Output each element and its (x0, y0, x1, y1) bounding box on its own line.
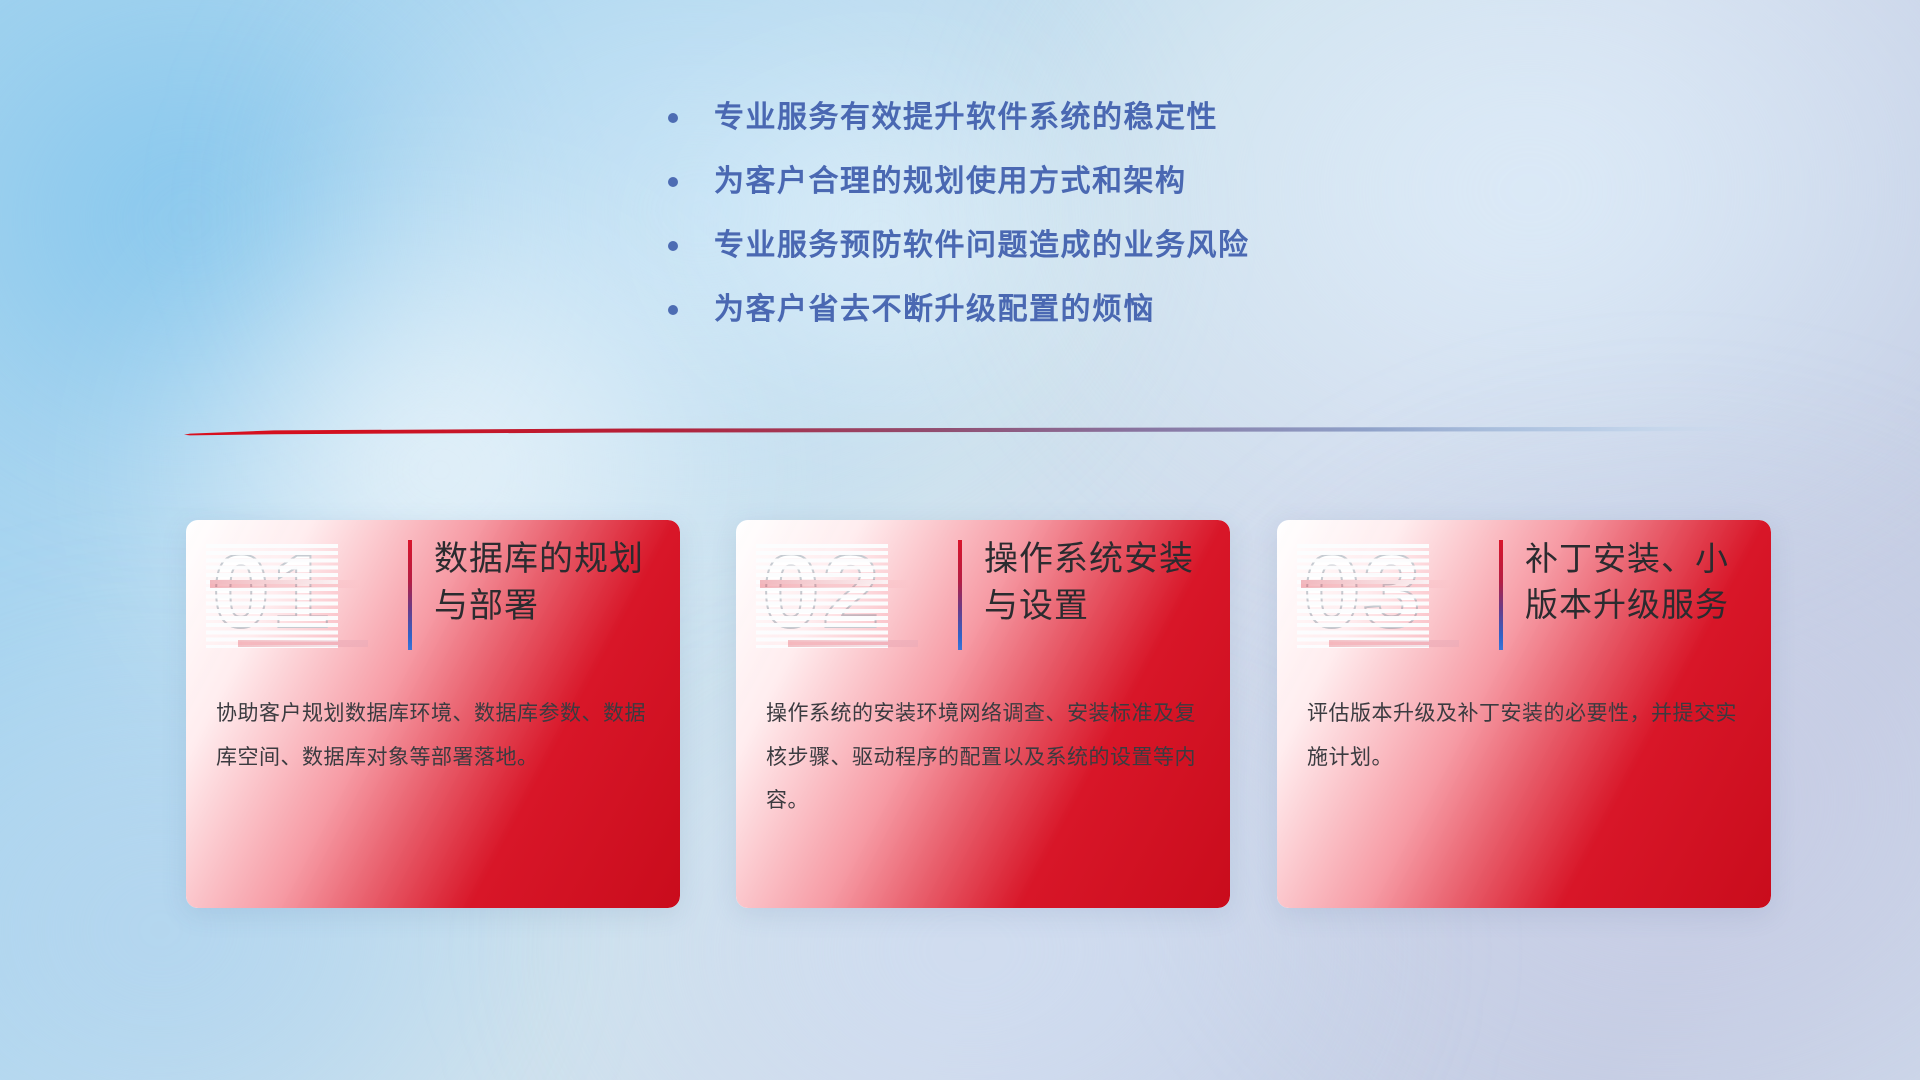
list-item: 专业服务有效提升软件系统的稳定性 (0, 86, 1920, 150)
bullet-dot-icon (668, 241, 678, 251)
list-item: 为客户合理的规划使用方式和架构 (0, 150, 1920, 214)
bullet-label: 专业服务有效提升软件系统的稳定性 (714, 103, 1218, 133)
card-number-03: 03 (1303, 540, 1423, 644)
list-item: 为客户省去不断升级配置的烦恼 (0, 278, 1920, 342)
bullet-dot-icon (668, 113, 678, 123)
service-card-02[interactable]: 02 操作系统安装与设置 操作系统的安装环境网络调查、安装标准及复核步骤、驱动程… (736, 520, 1230, 908)
service-card-list: 01 数据库的规划与部署 协助客户规划数据库环境、数据库参数、数据库空间、数据库… (0, 520, 1920, 920)
card-body-text: 评估版本升级及补丁安装的必要性，并提交实施计划。 (1307, 692, 1745, 779)
card-title: 数据库的规划与部署 (434, 536, 666, 630)
card-number-01: 01 (212, 540, 332, 644)
card-title-rule (408, 540, 412, 650)
card-header: 02 操作系统安装与设置 (736, 520, 1230, 670)
list-item: 专业服务预防软件问题造成的业务风险 (0, 214, 1920, 278)
card-number-02: 02 (762, 540, 882, 644)
bullet-label: 为客户省去不断升级配置的烦恼 (714, 295, 1155, 325)
section-divider (184, 424, 1744, 440)
benefit-bullet-list: 专业服务有效提升软件系统的稳定性 为客户合理的规划使用方式和架构 专业服务预防软… (0, 86, 1920, 342)
card-header: 01 数据库的规划与部署 (186, 520, 680, 670)
bullet-dot-icon (668, 177, 678, 187)
card-header: 03 补丁安装、小版本升级服务 (1277, 520, 1771, 670)
bullet-label: 为客户合理的规划使用方式和架构 (714, 167, 1187, 197)
bullet-label: 专业服务预防软件问题造成的业务风险 (714, 231, 1250, 261)
card-title-rule (958, 540, 962, 650)
service-card-01[interactable]: 01 数据库的规划与部署 协助客户规划数据库环境、数据库参数、数据库空间、数据库… (186, 520, 680, 908)
card-body-text: 协助客户规划数据库环境、数据库参数、数据库空间、数据库对象等部署落地。 (216, 692, 654, 779)
service-card-03[interactable]: 03 补丁安装、小版本升级服务 评估版本升级及补丁安装的必要性，并提交实施计划。 (1277, 520, 1771, 908)
card-title: 补丁安装、小版本升级服务 (1525, 536, 1757, 627)
card-title-rule (1499, 540, 1503, 650)
card-body-text: 操作系统的安装环境网络调查、安装标准及复核步骤、驱动程序的配置以及系统的设置等内… (766, 692, 1204, 823)
bullet-dot-icon (668, 305, 678, 315)
card-title: 操作系统安装与设置 (984, 536, 1216, 630)
